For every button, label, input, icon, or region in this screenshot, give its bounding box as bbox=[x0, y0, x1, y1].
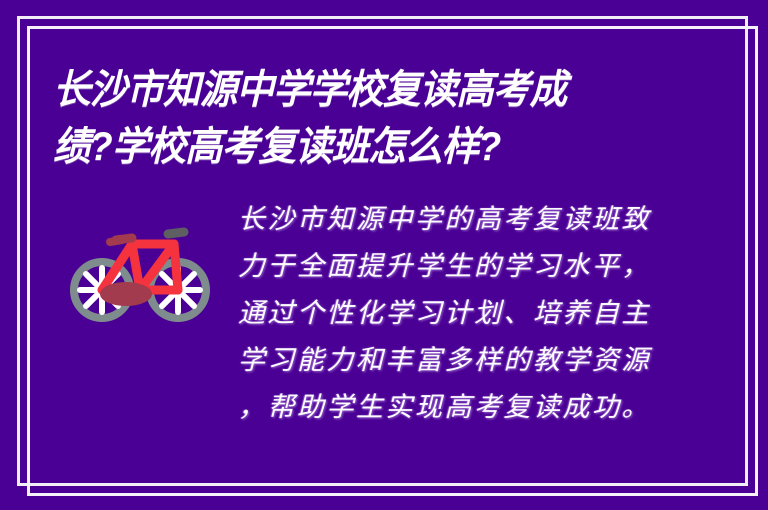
illustration-area bbox=[50, 196, 230, 328]
title-line-1: 长沙市知源中学学校复读高考成 bbox=[53, 62, 617, 119]
body-line-3: 通过个性化学习计划、培养自主 bbox=[238, 290, 722, 337]
page-title: 长沙市知源中学学校复读高考成 绩?学校高考复读班怎么样? bbox=[53, 62, 653, 176]
body-line-5: ，帮助学生实现高考复读成功。 bbox=[238, 384, 722, 431]
body-line-1: 长沙市知源中学的高考复读班致 bbox=[238, 196, 722, 243]
title-line-2: 绩?学校高考复读班怎么样? bbox=[53, 119, 617, 176]
body-line-2: 力于全面提升学生的学习水平， bbox=[238, 243, 722, 290]
content-row: 长沙市知源中学的高考复读班致 力于全面提升学生的学习水平， 通过个性化学习计划、… bbox=[50, 196, 722, 464]
bicycle-icon bbox=[70, 218, 210, 328]
poster-canvas: 长沙市知源中学学校复读高考成 绩?学校高考复读班怎么样? bbox=[0, 0, 768, 510]
body-text: 长沙市知源中学的高考复读班致 力于全面提升学生的学习水平， 通过个性化学习计划、… bbox=[230, 196, 722, 431]
body-line-4: 学习能力和丰富多样的教学资源 bbox=[238, 337, 722, 384]
